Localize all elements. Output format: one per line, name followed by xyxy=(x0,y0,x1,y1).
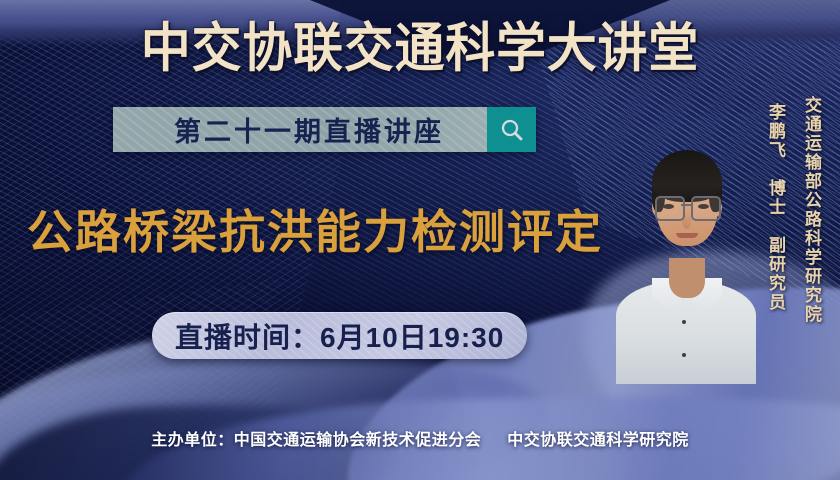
lecture-headline: 公路桥梁抗洪能力检测评定 xyxy=(27,204,603,260)
episode-banner: 第二十一期直播讲座 xyxy=(113,107,536,152)
search-icon xyxy=(499,117,525,143)
portrait-lens-left xyxy=(655,196,685,221)
poster-canvas: 中交协联交通科学大讲堂 第二十一期直播讲座 公路桥梁抗洪能力检测评定 直播时间：… xyxy=(0,0,840,480)
glasses-icon xyxy=(654,196,720,218)
main-title: 中交协联交通科学大讲堂 xyxy=(25,18,815,80)
portrait-glasses-bridge xyxy=(681,204,691,206)
portrait-shirt-button-top xyxy=(682,320,686,324)
episode-label: 第二十一期直播讲座 xyxy=(113,110,487,149)
footer-organizer-1: 中国交通运输协会新技术促进分会 xyxy=(234,432,482,449)
portrait-neck xyxy=(669,258,705,298)
footer-prefix: 主办单位： xyxy=(151,432,234,449)
portrait-shirt-button-bottom xyxy=(682,353,686,357)
portrait-lens-right xyxy=(691,196,721,221)
search-button[interactable] xyxy=(487,107,536,152)
speaker-portrait xyxy=(612,112,760,380)
live-time-badge: 直播时间：6月10日19:30 xyxy=(152,312,527,359)
footer-organizer-2: 中交协联交通科学研究院 xyxy=(507,432,689,449)
portrait-mouth xyxy=(676,233,698,238)
speaker-organization: 交通运输部公路科学研究院 xyxy=(799,96,824,324)
live-time-text: 直播时间：6月10日19:30 xyxy=(175,316,504,356)
footer-organizers: 主办单位：中国交通运输协会新技术促进分会中交协联交通科学研究院 xyxy=(0,426,840,450)
speaker-name-title: 李鹏飞 博士 副研究员 xyxy=(763,103,788,312)
